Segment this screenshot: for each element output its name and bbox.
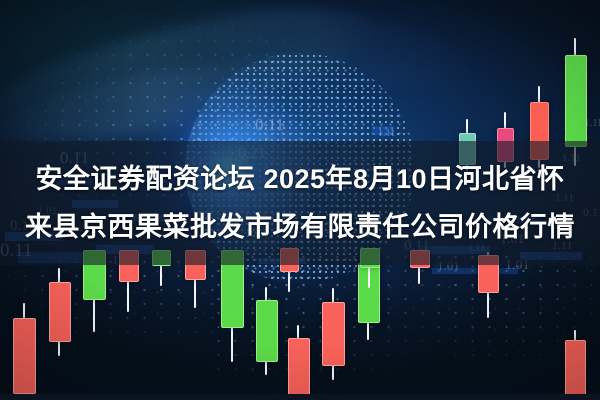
candle-b8-body bbox=[256, 300, 278, 362]
candle-b10-body bbox=[322, 302, 345, 366]
banner-image: 0.110.110.111.011.010.110.211.011.113.11… bbox=[0, 0, 600, 400]
bottom-edge-strip bbox=[0, 394, 600, 400]
candle-b1-body bbox=[13, 318, 36, 394]
candle-4-body bbox=[565, 55, 587, 147]
title-line-2: 来县京西果菜批发市场有限责任公司价格行情 bbox=[0, 203, 600, 251]
candle-b2-body bbox=[49, 282, 71, 342]
title-band: 安全证券配资论坛 2025年8月10日河北省怀 来县京西果菜批发市场有限责任公司… bbox=[0, 141, 600, 265]
title-line-1: 安全证券配资论坛 2025年8月10日河北省怀 bbox=[0, 155, 600, 203]
